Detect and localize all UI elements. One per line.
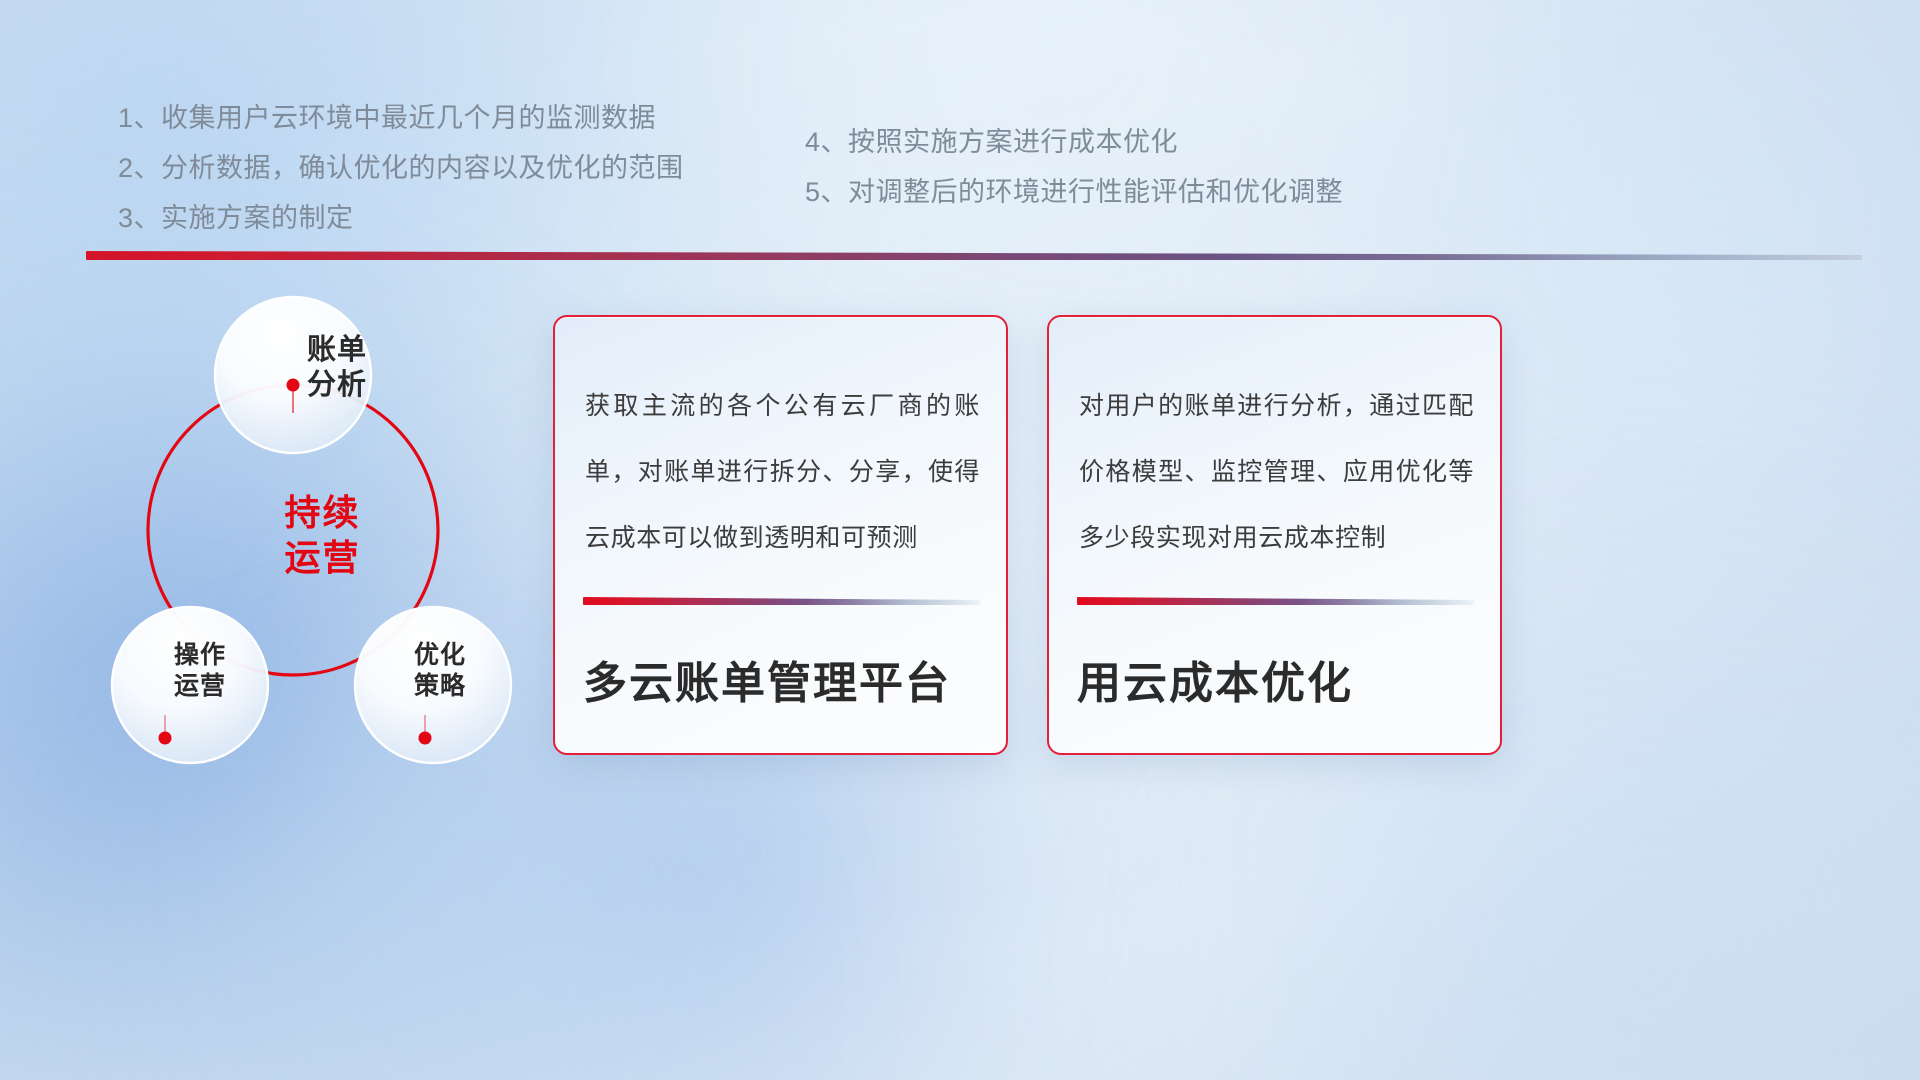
list-item: 3、实施方案的制定 [118,193,684,243]
steps-list-right: 4、按照实施方案进行成本优化 5、对调整后的环境进行性能评估和优化调整 [805,117,1343,217]
card-body-text: 对用户的账单进行分析，通过匹配价格模型、监控管理、应用优化等多少段实现对用云成本… [1079,373,1474,571]
list-item: 5、对调整后的环境进行性能评估和优化调整 [805,167,1343,217]
list-item: 1、收集用户云环境中最近几个月的监测数据 [118,93,684,143]
list-item: 2、分析数据，确认优化的内容以及优化的范围 [118,143,684,193]
card-cloud-cost-optimization[interactable]: 对用户的账单进行分析，通过匹配价格模型、监控管理、应用优化等多少段实现对用云成本… [1047,315,1502,755]
card-multicloud-billing[interactable]: 获取主流的各个公有云厂商的账单，对账单进行拆分、分享，使得云成本可以做到透明和可… [553,315,1008,755]
venn-label-optimization-strategy: 优化 策略 [375,640,505,701]
list-item: 4、按照实施方案进行成本优化 [805,117,1343,167]
venn-diagram: 账单 分析 操作 运营 优化 策略 持续 运营 [85,285,555,775]
section-divider [86,251,1862,260]
card-divider [1077,597,1474,605]
steps-list-left: 1、收集用户云环境中最近几个月的监测数据 2、分析数据，确认优化的内容以及优化的… [118,93,684,243]
venn-label-operations: 操作 运营 [135,640,265,701]
card-divider [583,597,980,605]
card-title: 用云成本优化 [1077,647,1480,711]
card-title: 多云账单管理平台 [583,647,986,711]
card-body-text: 获取主流的各个公有云厂商的账单，对账单进行拆分、分享，使得云成本可以做到透明和可… [585,373,980,571]
venn-label-billing-analysis: 账单 分析 [262,333,412,404]
venn-label-center: 持续 运营 [240,490,405,580]
